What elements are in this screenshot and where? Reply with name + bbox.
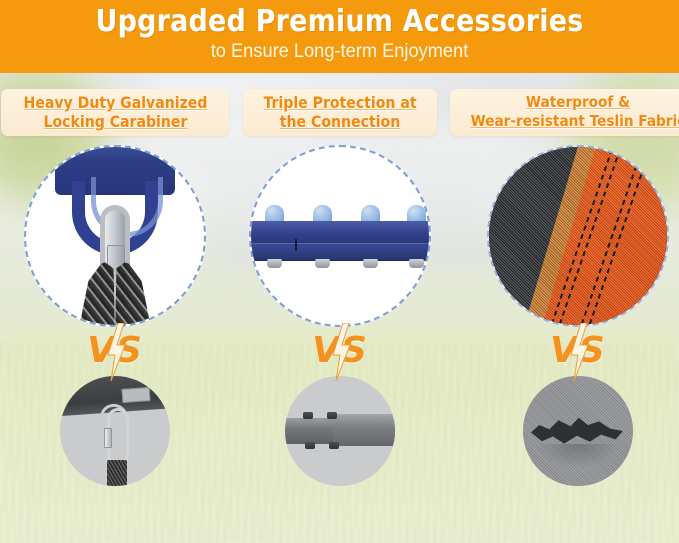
lightning-bolt-icon [568, 323, 590, 381]
old-bolt-shape [104, 428, 112, 448]
feature-column-fabric: Waterproof & Wear-resistant Teslin Fabri… [450, 73, 679, 543]
feature-label-line-1: Waterproof & [471, 93, 679, 112]
old-product-photo-connection [285, 376, 395, 486]
bolt-nut-shape [315, 259, 330, 268]
feature-column-carabiner: Heavy Duty Galvanized Locking Carabiner … [0, 73, 230, 543]
old-rope-shape [107, 460, 127, 486]
old-tube-overlap-shape [333, 414, 395, 446]
upgraded-product-photo-carabiner [24, 145, 206, 327]
feature-label-carabiner: Heavy Duty Galvanized Locking Carabiner [1, 89, 230, 136]
lightning-bolt-icon [330, 323, 352, 381]
old-label-tag-shape [122, 387, 151, 403]
old-product-photo-fabric [523, 376, 633, 486]
header-banner: Upgraded Premium Accessories to Ensure L… [0, 0, 679, 73]
connector-seam-shape [249, 243, 431, 260]
feature-label-line-2: the Connection [263, 112, 416, 131]
vs-badge-carabiner: VS [70, 329, 160, 375]
feature-label-line-1: Heavy Duty Galvanized [23, 93, 207, 112]
bolt-nut-shape [267, 259, 282, 268]
feature-columns: Heavy Duty Galvanized Locking Carabiner … [0, 73, 679, 543]
feature-label-line-1: Triple Protection at [263, 93, 416, 112]
old-bolt-shape [327, 412, 337, 419]
page-subtitle: to Ensure Long-term Enjoyment [14, 39, 666, 63]
product-feature-infographic: Upgraded Premium Accessories to Ensure L… [0, 0, 679, 543]
feature-label-fabric: Waterproof & Wear-resistant Teslin Fabri… [450, 89, 679, 136]
lightning-bolt-icon [105, 323, 127, 381]
bolt-nut-shape [363, 259, 378, 268]
connector-mark-shape [295, 239, 297, 251]
old-bolt-shape [303, 412, 313, 419]
feature-label-connection: Triple Protection at the Connection [243, 89, 437, 136]
old-fabric-crease-shape [535, 444, 619, 468]
vs-badge-fabric: VS [533, 329, 623, 375]
feature-column-connection: Triple Protection at the Connection VS [230, 73, 450, 543]
old-product-photo-carabiner [60, 376, 170, 486]
upgraded-product-photo-fabric [487, 145, 669, 327]
old-bolt-shape [305, 442, 315, 449]
feature-label-line-2: Wear-resistant Teslin Fabric [471, 112, 679, 131]
page-title: Upgraded Premium Accessories [34, 0, 645, 39]
old-bolt-shape [329, 442, 339, 449]
vs-badge-connection: VS [295, 329, 385, 375]
upgraded-product-photo-connection [249, 145, 431, 327]
bolt-nut-shape [409, 259, 424, 268]
feature-label-line-2: Locking Carabiner [23, 112, 207, 131]
